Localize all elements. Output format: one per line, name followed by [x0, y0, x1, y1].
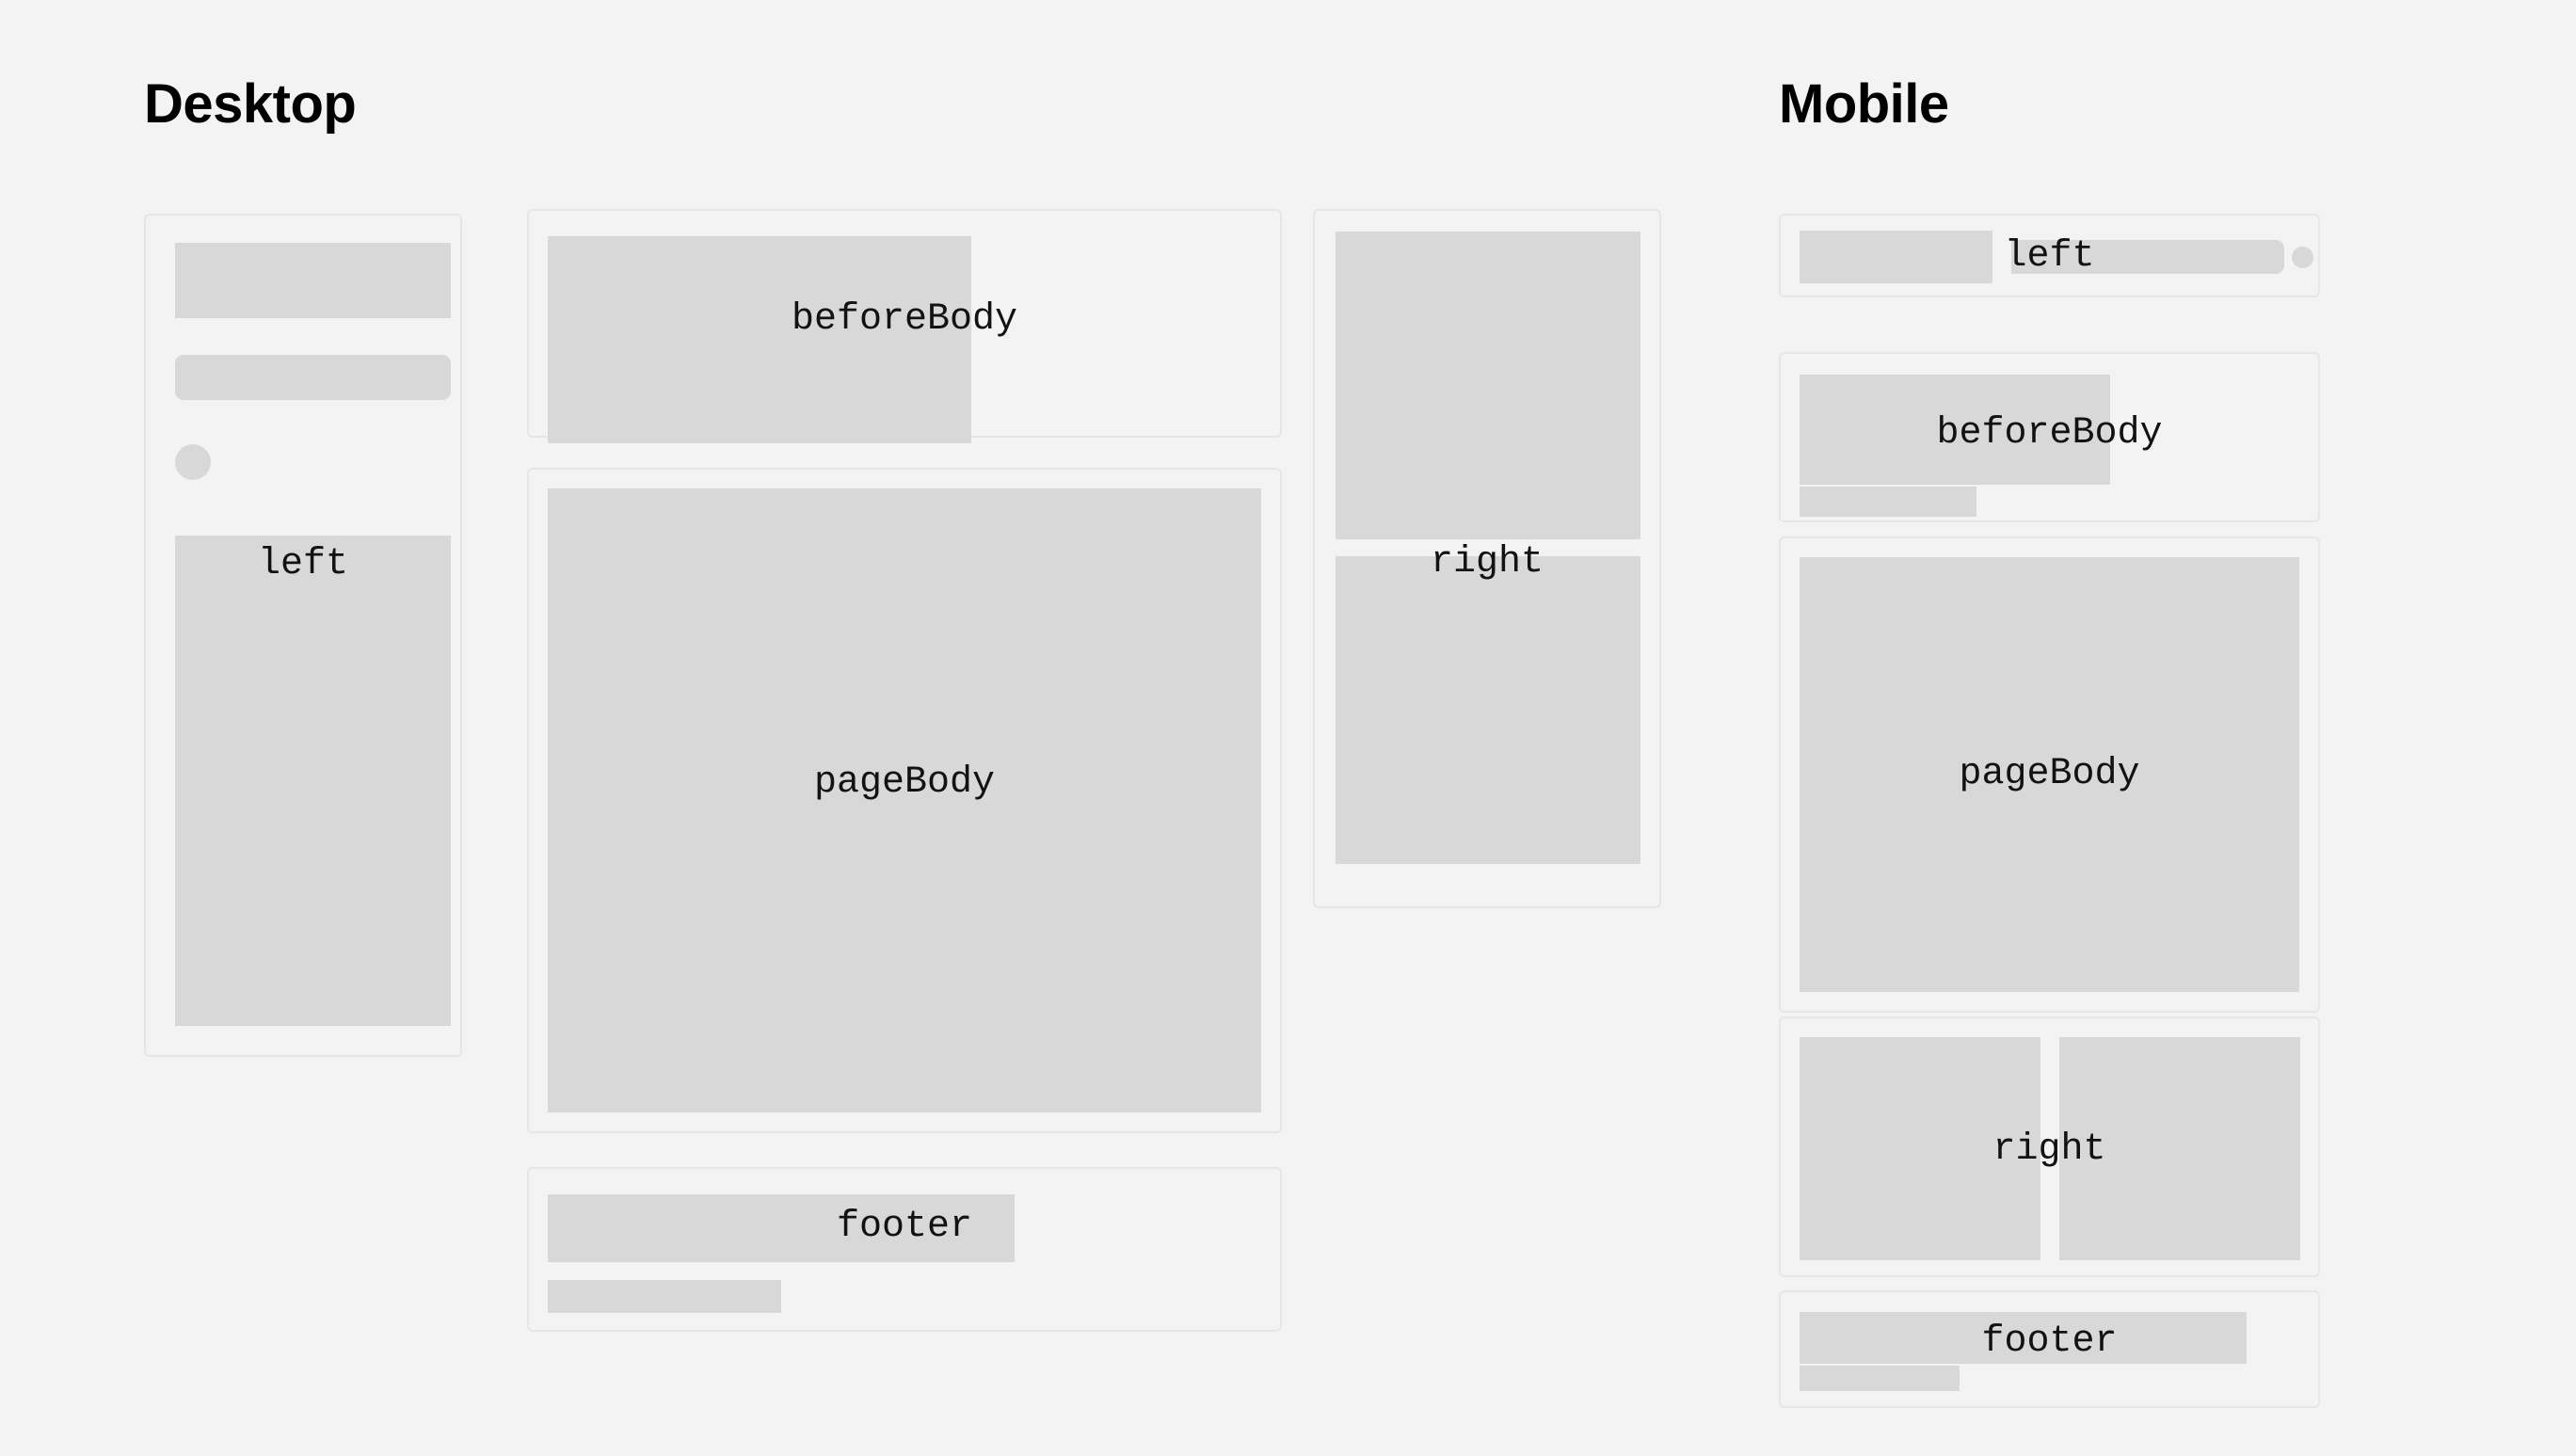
skeleton-block [1800, 1312, 2247, 1364]
skeleton-block [1800, 1037, 2040, 1260]
desktop-before-body-panel[interactable] [527, 209, 1282, 438]
skeleton-tall-block [175, 536, 451, 1026]
mobile-page-body-panel[interactable] [1779, 536, 2320, 1013]
desktop-section-title: Desktop [144, 77, 356, 132]
skeleton-bar [548, 388, 788, 425]
skeleton-block [1800, 557, 2299, 992]
skeleton-avatar-circle [2292, 247, 2313, 268]
wireframe-preview-canvas: Desktop left beforeBody pageBody right f… [0, 0, 2576, 1456]
desktop-right-panel[interactable] [1313, 209, 1661, 908]
desktop-footer-panel[interactable] [527, 1167, 1282, 1332]
skeleton-bar [1800, 1366, 1960, 1391]
desktop-left-panel[interactable] [144, 214, 462, 1057]
skeleton-block [2059, 1037, 2300, 1260]
skeleton-block [548, 488, 1261, 1112]
desktop-page-body-panel[interactable] [527, 468, 1282, 1133]
skeleton-avatar-circle [175, 444, 211, 480]
skeleton-block [1336, 556, 1640, 864]
skeleton-bar [2011, 240, 2284, 274]
mobile-right-panel[interactable] [1779, 1016, 2320, 1277]
skeleton-block [1800, 231, 1992, 283]
mobile-before-body-panel[interactable] [1779, 352, 2320, 522]
skeleton-block [548, 1194, 1015, 1262]
mobile-section-title: Mobile [1779, 77, 1949, 132]
skeleton-bar [1800, 487, 1976, 517]
skeleton-block [175, 243, 451, 318]
skeleton-bar [548, 1280, 781, 1313]
skeleton-block [1336, 232, 1640, 539]
skeleton-bar [175, 355, 451, 400]
mobile-left-panel[interactable] [1779, 214, 2320, 297]
mobile-footer-panel[interactable] [1779, 1290, 2320, 1408]
skeleton-block [1800, 375, 2110, 485]
